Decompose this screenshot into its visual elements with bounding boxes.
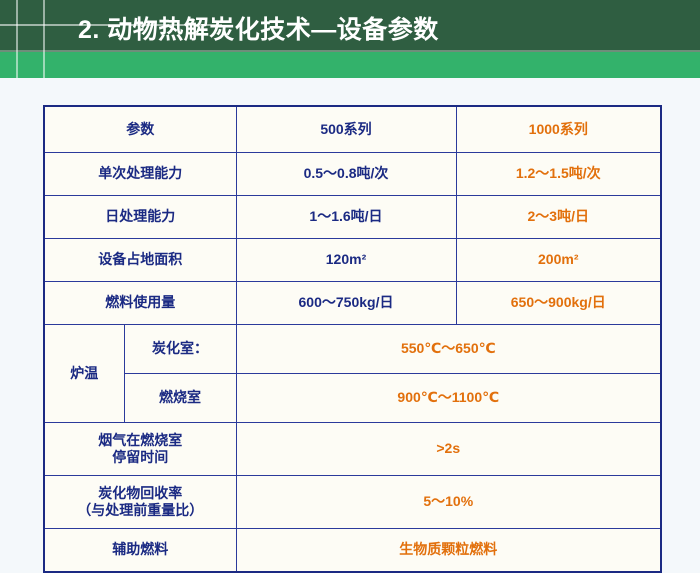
slide-header: 2. 动物热解炭化技术—设备参数: [0, 0, 700, 78]
table-header-row: 参数 500系列 1000系列: [44, 106, 661, 153]
row-value-combustion-chamber: 900℃～1100℃: [236, 374, 661, 423]
label-line-2: 停留时间: [112, 449, 168, 465]
row-sublabel-carbonization-chamber: 炭化室：: [124, 325, 236, 374]
row-value-carbonization-chamber: 550℃～650℃: [236, 325, 661, 374]
row-value-1000-fuel-usage: 650～900kg/日: [456, 282, 661, 325]
row-value-1000-footprint: 200m²: [456, 239, 661, 282]
header-decor-vline-2: [43, 0, 45, 78]
table-row-furnace-carbonization: 炉温 炭化室： 550℃～650℃: [44, 325, 661, 374]
row-label-auxiliary-fuel: 辅助燃料: [44, 529, 236, 573]
header-cell-param: 参数: [44, 106, 236, 153]
row-label-daily-capacity: 日处理能力: [44, 196, 236, 239]
row-label-fuel-usage: 燃料使用量: [44, 282, 236, 325]
row-value-500-daily-capacity: 1～1.6吨/日: [236, 196, 456, 239]
label-line-1: 炭化物回收率: [98, 485, 182, 501]
row-value-1000-batch-capacity: 1.2～1.5吨/次: [456, 153, 661, 196]
table-row: 设备占地面积 120m² 200m²: [44, 239, 661, 282]
row-label-furnace-temp: 炉温: [44, 325, 124, 423]
row-value-500-fuel-usage: 600～750kg/日: [236, 282, 456, 325]
row-label-footprint: 设备占地面积: [44, 239, 236, 282]
label-line-2: （与处理前重量比）: [77, 502, 203, 518]
row-label-batch-capacity: 单次处理能力: [44, 153, 236, 196]
label-line-1: 烟气在燃烧室: [98, 432, 182, 448]
table-row: 单次处理能力 0.5～0.8吨/次 1.2～1.5吨/次: [44, 153, 661, 196]
table-row: 炭化物回收率 （与处理前重量比） 5～10%: [44, 476, 661, 529]
page-title: 2. 动物热解炭化技术—设备参数: [78, 10, 439, 50]
row-label-char-recovery-rate: 炭化物回收率 （与处理前重量比）: [44, 476, 236, 529]
row-value-char-recovery-rate: 5～10%: [236, 476, 661, 529]
header-cell-1000: 1000系列: [456, 106, 661, 153]
header-light-band: [0, 52, 700, 78]
table-row: 辅助燃料 生物质颗粒燃料: [44, 529, 661, 573]
table-row: 燃料使用量 600～750kg/日 650～900kg/日: [44, 282, 661, 325]
row-value-flue-gas-residence: >2s: [236, 423, 661, 476]
table-row: 日处理能力 1～1.6吨/日 2～3吨/日: [44, 196, 661, 239]
table-row-furnace-combustion: 燃烧室 900℃～1100℃: [44, 374, 661, 423]
row-sublabel-combustion-chamber: 燃烧室: [124, 374, 236, 423]
header-cell-500: 500系列: [236, 106, 456, 153]
table-row: 烟气在燃烧室 停留时间 >2s: [44, 423, 661, 476]
header-divider-line: [0, 50, 700, 52]
row-value-auxiliary-fuel: 生物质颗粒燃料: [236, 529, 661, 573]
row-value-1000-daily-capacity: 2～3吨/日: [456, 196, 661, 239]
row-value-500-footprint: 120m²: [236, 239, 456, 282]
row-label-flue-gas-residence: 烟气在燃烧室 停留时间: [44, 423, 236, 476]
row-value-500-batch-capacity: 0.5～0.8吨/次: [236, 153, 456, 196]
header-decor-vline-1: [16, 0, 18, 78]
equipment-parameter-table: 参数 500系列 1000系列 单次处理能力 0.5～0.8吨/次 1.2～1.…: [43, 105, 662, 573]
